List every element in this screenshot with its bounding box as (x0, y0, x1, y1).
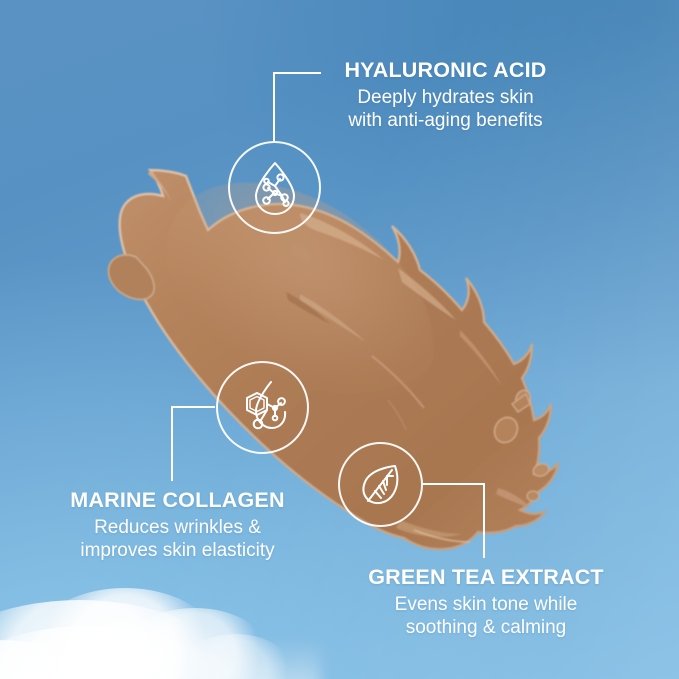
callout-title: GREEN TEA EXTRACT (341, 565, 631, 589)
callout-title: MARINE COLLAGEN (34, 488, 321, 512)
ingredient-infographic: HYALURONIC ACID Deeply hydrates skin wit… (0, 0, 679, 679)
droplet-benzene-molecule-icon (231, 376, 295, 440)
leaf-icon (354, 458, 408, 512)
callout-description: Deeply hydrates skin with anti-aging ben… (313, 87, 578, 133)
icon-badge-green-tea-extract[interactable] (338, 442, 423, 527)
icon-badge-marine-collagen[interactable] (216, 361, 309, 454)
callout-green-tea-extract: GREEN TEA EXTRACT Evens skin tone while … (341, 565, 631, 640)
droplet-molecule-icon (244, 157, 306, 219)
callout-marine-collagen: MARINE COLLAGEN Reduces wrinkles & impro… (34, 488, 321, 563)
callout-description: Reduces wrinkles & improves skin elastic… (34, 517, 321, 563)
callout-title: HYALURONIC ACID (313, 58, 578, 82)
callout-hyaluronic-acid: HYALURONIC ACID Deeply hydrates skin wit… (313, 58, 578, 133)
icon-badge-hyaluronic-acid[interactable] (228, 141, 321, 234)
callout-description: Evens skin tone while soothing & calming (341, 594, 631, 640)
